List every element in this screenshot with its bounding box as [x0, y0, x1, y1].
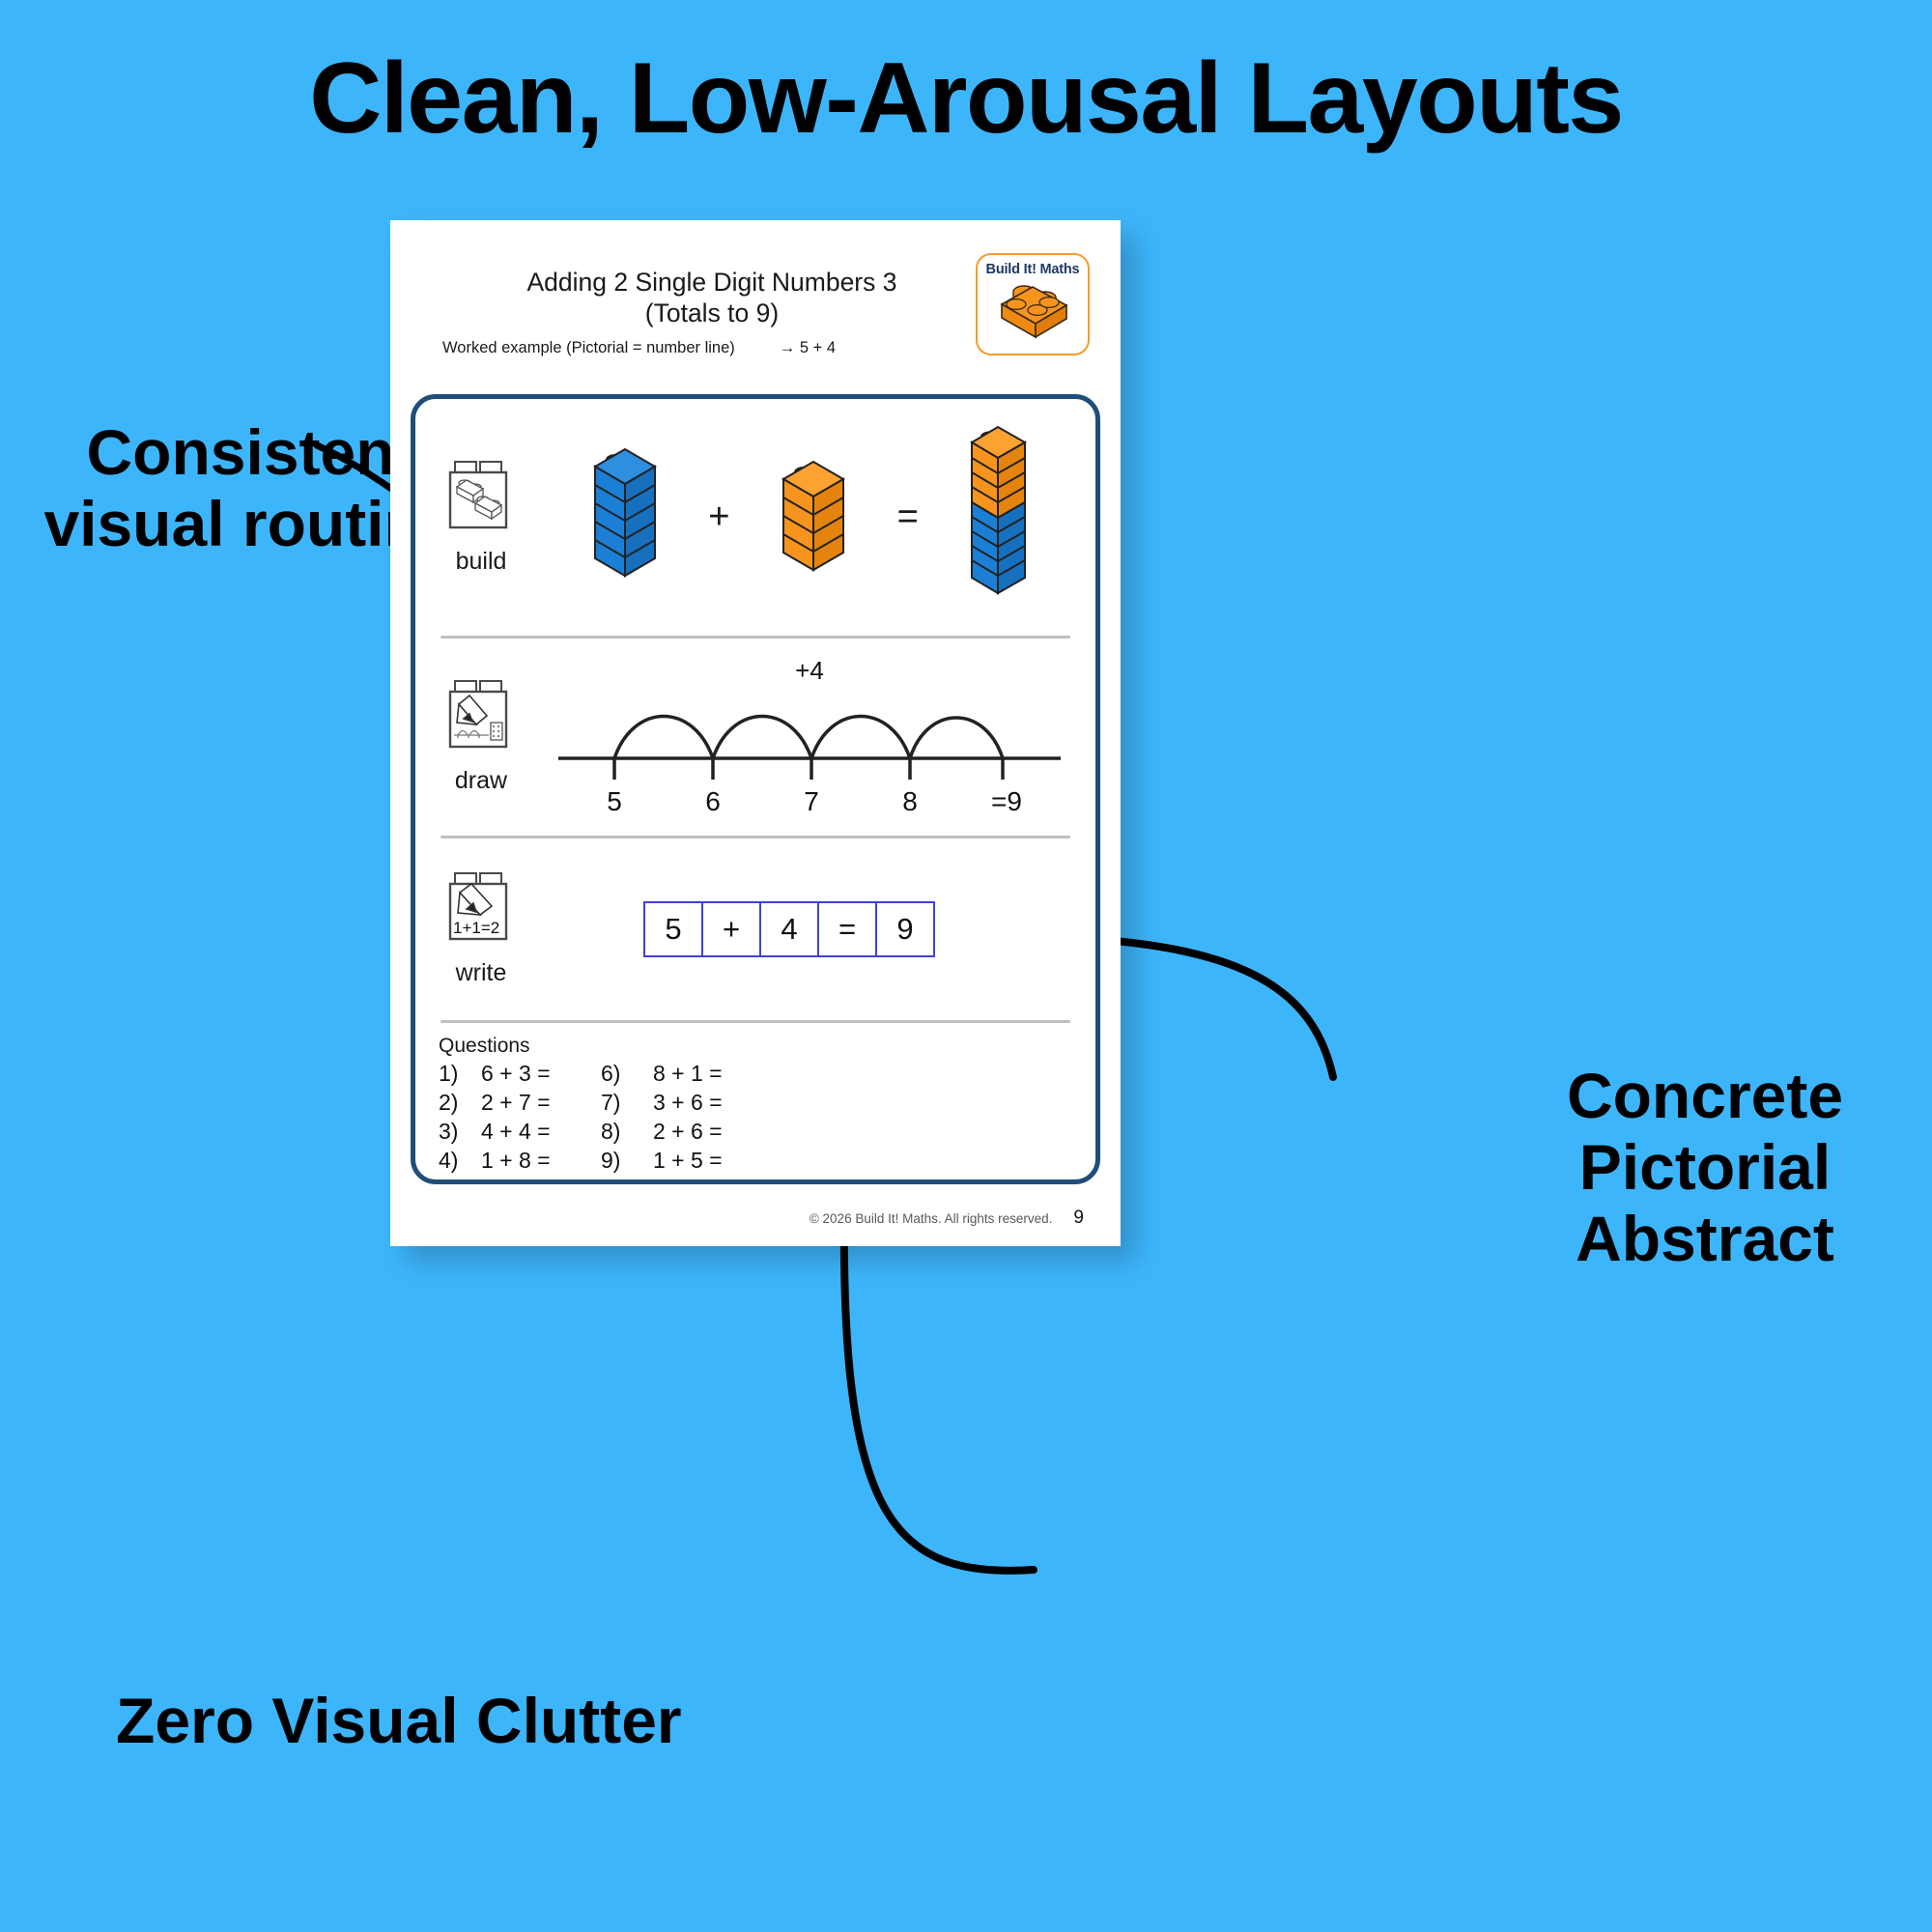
- question-number: 10): [601, 1176, 653, 1184]
- question-number: 9): [601, 1147, 653, 1176]
- two-bricks-icon: [443, 460, 519, 541]
- question-number: 3): [439, 1118, 481, 1147]
- page-title: Clean, Low-Arousal Layouts: [0, 46, 1932, 152]
- question-expression: 1 + 5 =: [653, 1147, 769, 1176]
- equation-cell-0[interactable]: 5: [643, 901, 703, 957]
- worked-example-expression: → 5 + 4: [780, 339, 836, 357]
- copyright-text: © 2026 Build It! Maths. All rights reser…: [810, 1211, 1053, 1226]
- numberline-visual: +4 5: [541, 650, 1095, 824]
- questions-heading: Questions: [439, 1035, 1095, 1058]
- equation-cell-1[interactable]: +: [701, 901, 761, 957]
- blue-brick-tower: [583, 438, 667, 597]
- question-expression: 5 + 2 =: [481, 1176, 601, 1184]
- question-number: 1): [439, 1060, 481, 1089]
- question-number: 5): [439, 1176, 481, 1184]
- question-row: 2)2 + 7 =7)3 + 6 =: [439, 1089, 1095, 1118]
- svg-text:7: 7: [804, 786, 819, 816]
- question-number: 2): [439, 1089, 481, 1118]
- svg-text:6: 6: [705, 786, 721, 816]
- question-number: 7): [601, 1089, 653, 1118]
- question-number: 6): [601, 1060, 653, 1089]
- question-row: 3)4 + 4 =8)2 + 6 =: [439, 1118, 1095, 1147]
- equation-cell-2[interactable]: 4: [759, 901, 819, 957]
- step-write: 1+1=2 write: [415, 871, 541, 987]
- svg-text:=9: =9: [991, 786, 1022, 816]
- question-expression: 1 + 8 =: [481, 1147, 601, 1176]
- equation-visual: 5+4=9: [541, 901, 1095, 957]
- question-expression: 0 + 9 =: [653, 1176, 769, 1184]
- step-draw-label: draw: [455, 767, 507, 795]
- equation-boxes: 5+4=9: [643, 901, 935, 957]
- worksheet-page: Adding 2 Single Digit Numbers 3 (Totals …: [390, 220, 1121, 1246]
- question-expression: 3 + 6 =: [653, 1089, 769, 1118]
- step-write-label: write: [456, 959, 507, 987]
- callout-concrete-pictorial-abstract: Concrete Pictorial Abstract: [1488, 1061, 1922, 1275]
- svg-text:5: 5: [607, 786, 622, 816]
- question-expression: 6 + 3 =: [481, 1060, 601, 1089]
- plus-operator: +: [708, 497, 729, 538]
- question-number: 4): [439, 1147, 481, 1176]
- questions-section: Questions 1)6 + 3 =6)8 + 1 =2)2 + 7 =7)3…: [415, 1023, 1095, 1184]
- page-number: 9: [1073, 1207, 1084, 1229]
- step-draw: draw: [415, 679, 541, 795]
- step-build: build: [415, 460, 541, 576]
- question-expression: 8 + 1 =: [653, 1060, 769, 1089]
- step-write-icon-text: 1+1=2: [453, 919, 499, 937]
- callout-zero-visual-clutter: Zero Visual Clutter: [116, 1686, 889, 1757]
- combined-brick-tower: [960, 416, 1037, 619]
- numberline-tick-labels: 5 6 7 8 =9: [607, 786, 1022, 816]
- orange-brick-tower: [772, 450, 855, 585]
- question-row: 4)1 + 8 =9)1 + 5 =: [439, 1147, 1095, 1176]
- equals-operator: =: [897, 497, 919, 538]
- brand-logo-text: Build It! Maths: [986, 262, 1080, 277]
- section-write: 1+1=2 write 5+4=9: [415, 838, 1095, 1020]
- worksheet-footer: © 2026 Build It! Maths. All rights reser…: [390, 1207, 1121, 1229]
- question-number: 8): [601, 1118, 653, 1147]
- svg-text:8: 8: [902, 786, 918, 816]
- numberline-ticks: [614, 758, 1003, 780]
- section-build: build +: [415, 399, 1095, 636]
- brand-logo: Build It! Maths: [976, 253, 1090, 355]
- worksheet-subtitle: Worked example (Pictorial = number line): [442, 339, 735, 357]
- question-expression: 2 + 7 =: [481, 1089, 601, 1118]
- worksheet-title-line2: (Totals to 9): [429, 298, 995, 328]
- worksheet-content-frame: build +: [411, 394, 1100, 1184]
- section-draw: draw +4: [415, 639, 1095, 836]
- lego-brick-icon: [987, 277, 1078, 341]
- question-expression: 2 + 6 =: [653, 1118, 769, 1147]
- numberline-hops: [614, 717, 1003, 759]
- equation-cell-3[interactable]: =: [817, 901, 877, 957]
- worksheet-title-line1: Adding 2 Single Digit Numbers 3: [429, 267, 995, 298]
- question-expression: 4 + 4 =: [481, 1118, 601, 1147]
- build-visual: + =: [541, 416, 1095, 619]
- pencil-equation-icon: 1+1=2: [443, 871, 519, 952]
- questions-list: 1)6 + 3 =6)8 + 1 =2)2 + 7 =7)3 + 6 =3)4 …: [439, 1060, 1095, 1184]
- worksheet-header: Adding 2 Single Digit Numbers 3 (Totals …: [390, 220, 1121, 365]
- pencil-numberline-icon: [443, 679, 519, 760]
- numberline-hop-label: +4: [795, 656, 824, 685]
- question-row: 1)6 + 3 =6)8 + 1 =: [439, 1060, 1095, 1089]
- equation-cell-4[interactable]: 9: [875, 901, 935, 957]
- step-build-label: build: [456, 548, 507, 576]
- question-row: 5)5 + 2 =10)0 + 9 =: [439, 1176, 1095, 1184]
